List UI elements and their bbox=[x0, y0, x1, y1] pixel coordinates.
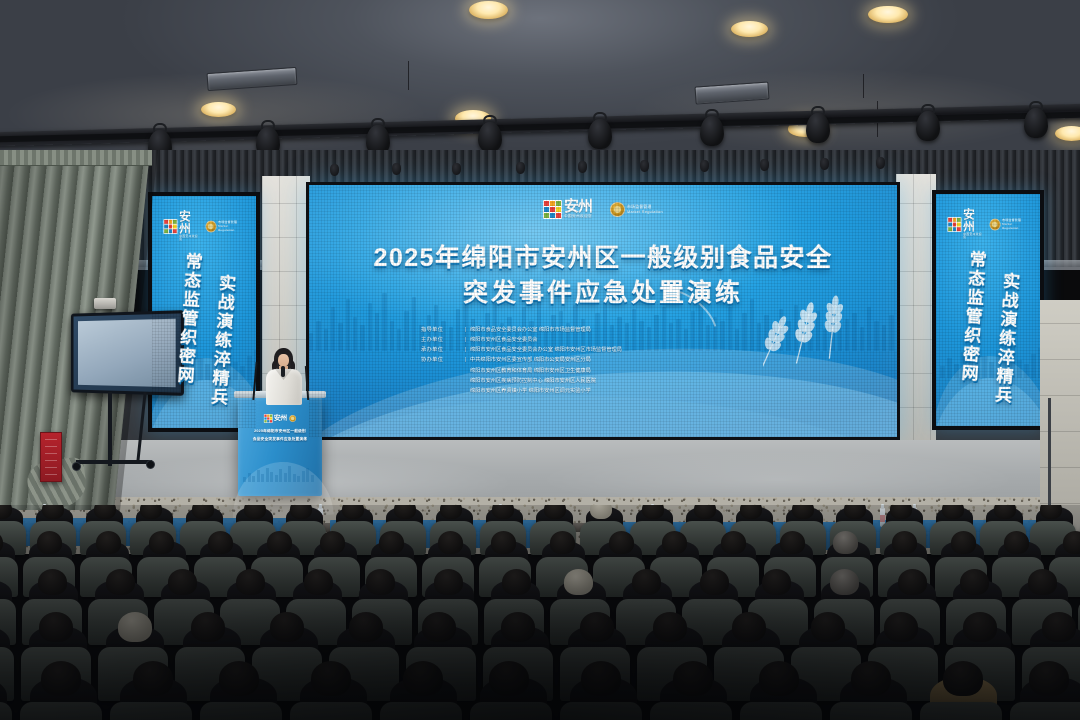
audience-member-head bbox=[590, 505, 612, 519]
audience-seat bbox=[650, 702, 732, 720]
emblem-badge-icon bbox=[205, 221, 216, 233]
podium-title-line-1: 2025年绵阳市安州区一般级别 bbox=[238, 428, 322, 436]
organizer-value: 绵阳市安州区食品安全委员会办公室 绵阳市安州区市场监督管理局 bbox=[470, 345, 622, 355]
right-slogan-column-2: 实战演练淬精兵 bbox=[985, 271, 1022, 430]
skyline-building bbox=[331, 307, 335, 351]
podium-skyline-graphic bbox=[243, 466, 315, 482]
logo-anzhou-subtext: 中国安州欢迎您 bbox=[179, 235, 200, 241]
left-screen-wave-back bbox=[148, 375, 260, 432]
skyline-building bbox=[1031, 354, 1036, 378]
audience-member-head bbox=[311, 661, 351, 696]
audience-member-head bbox=[851, 661, 891, 696]
left-slogan-column-1: 常态监管织密网 bbox=[168, 251, 205, 432]
emblem-label: 市场监督管理 Market Regulation bbox=[218, 221, 245, 233]
audience-member-head bbox=[892, 531, 917, 554]
audience-member-head bbox=[759, 661, 799, 696]
left-screen-skyline bbox=[156, 346, 260, 380]
audience-seat bbox=[290, 702, 372, 720]
right-screen-slogan: 常态监管织密网 实战演练淬精兵 bbox=[936, 250, 1040, 430]
skyline-building bbox=[375, 313, 379, 351]
audience-member-head bbox=[106, 569, 135, 595]
spotlight-yoke bbox=[705, 109, 719, 118]
skyline-building bbox=[757, 323, 761, 351]
organizer-separator: | bbox=[461, 335, 470, 345]
skyline-building bbox=[288, 466, 291, 482]
market-regulation-emblem bbox=[289, 415, 296, 422]
logo-calligraphy: 安州 bbox=[274, 415, 287, 422]
audience-member-head bbox=[96, 531, 121, 554]
audience-member-head bbox=[721, 531, 746, 554]
audience-member-head bbox=[653, 612, 687, 642]
skyline-building bbox=[874, 321, 878, 351]
monitor-stand-post bbox=[108, 392, 112, 466]
main-screen-title: 2025年绵阳市安州区一般级别食品安全 突发事件应急处置演练 bbox=[309, 241, 897, 310]
skyline-building bbox=[284, 473, 287, 482]
stage-spotlight bbox=[588, 119, 612, 149]
logo-calligraphy: 安州 中国安州欢迎您 bbox=[179, 212, 200, 241]
skyline-building bbox=[742, 313, 746, 351]
logo-anzhou-subtext: 中国安州欢迎您 bbox=[564, 215, 592, 219]
organizer-separator: | bbox=[461, 325, 470, 335]
audience-seat bbox=[920, 702, 1002, 720]
audience-member-head bbox=[422, 612, 456, 642]
skyline-building bbox=[860, 327, 864, 351]
skyline-building bbox=[261, 474, 264, 482]
skyline-building bbox=[961, 352, 966, 378]
logo-anzhou-subtext: 中国安州欢迎您 bbox=[963, 233, 984, 239]
audience-member-head bbox=[732, 612, 766, 642]
stage-spotlight bbox=[916, 111, 940, 141]
audience-member-head bbox=[662, 531, 687, 554]
monitor-caster-wheel bbox=[72, 462, 81, 471]
audience-member-head bbox=[270, 612, 304, 642]
audience-member-head bbox=[833, 531, 858, 554]
audience-member-head bbox=[581, 661, 621, 696]
logo-calligraphy: 安州 中国安州欢迎您 bbox=[963, 210, 984, 239]
emblem-label-cn: 市场监督管理 bbox=[1002, 219, 1029, 223]
audience-member-head bbox=[951, 531, 976, 554]
left-led-screen: 安州 中国安州欢迎您 市场监督管理 Market Regulation 常态监管… bbox=[148, 192, 260, 432]
spotlight-yoke bbox=[1029, 101, 1043, 110]
audience-seat bbox=[740, 702, 822, 720]
audience-member-head bbox=[440, 505, 462, 519]
wall-mounted-spotlight bbox=[578, 161, 587, 173]
organizer-value: 绵阳市安州区养贤镇小学 绵阳市安州区调元实验小学 bbox=[470, 386, 596, 396]
podium-title-line-2: 食品安全突发事件应急处置演练 bbox=[238, 436, 322, 444]
audience-member-head bbox=[942, 505, 964, 519]
audience-seat bbox=[0, 702, 12, 720]
audience-member-head bbox=[963, 612, 997, 642]
organizer-row: 协办单位|中共绵阳市安州区委宣传部 绵阳市公安局安州区分局绵阳市安州区教育和体育… bbox=[421, 355, 622, 396]
wall-mounted-spotlight bbox=[640, 160, 649, 172]
audience-member-head bbox=[844, 505, 866, 519]
market-regulation-emblem: 市场监督管理 Market Regulation bbox=[205, 221, 244, 233]
right-led-screen: 安州 中国安州欢迎您 市场监督管理 Market Regulation 常态监管… bbox=[932, 190, 1044, 430]
skyline-building bbox=[243, 477, 246, 482]
audience-member-head bbox=[434, 569, 463, 595]
logo-anzhou-text: 安州 bbox=[963, 209, 974, 233]
skyline-building bbox=[324, 329, 328, 351]
organizer-label: 承办单位 bbox=[421, 345, 461, 355]
audience-member-head bbox=[673, 661, 713, 696]
skyline-building bbox=[735, 329, 739, 351]
skyline-building bbox=[968, 360, 973, 378]
emblem-label: 市场监督管理 Market Regulation bbox=[1002, 219, 1029, 231]
skyline-building bbox=[163, 360, 168, 380]
audience-member-head bbox=[502, 569, 531, 595]
wall-mounted-spotlight bbox=[452, 163, 461, 175]
stage-spotlight bbox=[478, 122, 502, 152]
left-screen-logos: 安州 中国安州欢迎您 市场监督管理 Market Regulation bbox=[163, 212, 244, 241]
anzhou-city-brand-logo: 安州 中国安州欢迎您 bbox=[947, 210, 983, 239]
skyline-building bbox=[338, 323, 342, 351]
spotlight-yoke bbox=[811, 106, 825, 115]
audience-member-head bbox=[642, 505, 664, 519]
skyline-building bbox=[867, 307, 871, 351]
audience-member-head bbox=[1040, 505, 1062, 519]
audience-member-head bbox=[811, 612, 845, 642]
market-regulation-emblem: 市场监督管理 Market Regulation bbox=[610, 202, 663, 217]
skyline-building bbox=[1024, 364, 1029, 378]
audience-member-head bbox=[1042, 612, 1076, 642]
audience-member-head bbox=[550, 531, 575, 554]
organizer-row: 主办单位|绵阳市安州区食品安全委员会 bbox=[421, 335, 622, 345]
ceiling-hanging-wire bbox=[863, 74, 864, 97]
organizer-label: 协办单位 bbox=[421, 355, 461, 365]
anzhou-city-brand-logo: 安州 bbox=[264, 414, 287, 423]
organizer-value: 中共绵阳市安州区委宣传部 绵阳市公安局安州区分局 bbox=[470, 355, 596, 365]
spotlight-yoke bbox=[371, 118, 385, 127]
logo-mosaic-grid bbox=[264, 414, 273, 423]
audience-member-head bbox=[994, 505, 1016, 519]
audience-member-head bbox=[489, 661, 529, 696]
skyline-building bbox=[989, 362, 994, 378]
skyline-building bbox=[1003, 358, 1008, 378]
skyline-building bbox=[212, 352, 217, 380]
right-slogan-column-1: 常态监管织密网 bbox=[952, 249, 989, 430]
logo-mosaic-grid bbox=[947, 217, 961, 232]
main-screen-logos: 安州 中国安州欢迎您 市场监督管理 Market Regulation bbox=[309, 200, 897, 219]
audience-member-head bbox=[304, 569, 333, 595]
tile-wall-right-gap bbox=[896, 174, 936, 442]
audience-member-head bbox=[41, 661, 81, 696]
skyline-building bbox=[198, 358, 203, 380]
skyline-building bbox=[205, 364, 210, 380]
organizer-values: 绵阳市安州区食品安全委员会 bbox=[470, 335, 537, 345]
audience-member-head bbox=[140, 505, 162, 519]
logo-mosaic-grid bbox=[543, 200, 562, 219]
skyline-building bbox=[156, 368, 161, 380]
skyline-building bbox=[940, 366, 945, 378]
ceiling-downlight bbox=[1055, 126, 1080, 141]
audience-member-head bbox=[208, 531, 233, 554]
skyline-building bbox=[219, 360, 224, 380]
audience-member-head bbox=[890, 505, 912, 519]
right-screen-wave-front bbox=[932, 351, 1044, 430]
skyline-building bbox=[191, 350, 196, 380]
audience-member-head bbox=[118, 612, 152, 642]
organizer-separator: | bbox=[461, 345, 470, 355]
audience-member-head bbox=[192, 505, 214, 519]
audience-seat bbox=[20, 702, 102, 720]
stage-spotlight bbox=[806, 113, 830, 143]
monitor-caster-wheel bbox=[146, 460, 155, 469]
organizer-row: 指导单位|绵阳市食品安全委员会办公室 绵阳市市场监督管理局 bbox=[421, 325, 622, 335]
audience-member-head bbox=[267, 531, 292, 554]
audience-member-head bbox=[394, 505, 416, 519]
organizer-value: 绵阳市安州区疾病预防控制中心 绵阳市安州区人民医院 bbox=[470, 376, 596, 386]
skyline-building bbox=[279, 469, 282, 482]
skyline-building bbox=[954, 364, 959, 378]
audience-member-head bbox=[366, 569, 395, 595]
audience-member-head bbox=[320, 531, 345, 554]
audience-member-head bbox=[762, 569, 791, 595]
audience-member-head bbox=[149, 531, 174, 554]
left-screen-wave-front bbox=[148, 353, 260, 432]
skyline-building bbox=[177, 354, 182, 380]
organizer-values: 绵阳市食品安全委员会办公室 绵阳市市场监督管理局 bbox=[470, 325, 591, 335]
emblem-label-en: Market Regulation bbox=[627, 210, 663, 215]
stage-spotlight bbox=[700, 116, 724, 146]
right-screen-skyline bbox=[940, 344, 1044, 378]
audience-member-head bbox=[168, 569, 197, 595]
emblem-label-cn: 市场监督管理 bbox=[218, 221, 245, 225]
skyline-building bbox=[297, 476, 300, 482]
skyline-building bbox=[720, 321, 724, 351]
audience-member-head bbox=[1063, 531, 1080, 554]
audience-member-head bbox=[898, 569, 927, 595]
audience-member-head bbox=[632, 569, 661, 595]
audience-seating-area bbox=[0, 505, 1080, 720]
logo-mosaic-grid bbox=[163, 219, 177, 234]
wall-mounted-spotlight bbox=[700, 160, 709, 172]
audience-member-head bbox=[42, 505, 64, 519]
emblem-label-en: Market Regulation bbox=[1002, 223, 1029, 231]
skyline-building bbox=[226, 346, 231, 380]
conference-hall-photo: 安州 中国安州欢迎您 市场监督管理 Market Regulation 常态监管… bbox=[0, 0, 1080, 720]
organizer-credits-block: 指导单位|绵阳市食品安全委员会办公室 绵阳市市场监督管理局主办单位|绵阳市安州区… bbox=[421, 325, 622, 396]
organizer-value: 绵阳市安州区教育和体育局 绵阳市安州区卫生健康局 bbox=[470, 366, 596, 376]
organizer-separator: | bbox=[461, 355, 470, 365]
skyline-building bbox=[184, 362, 189, 380]
right-screen-logos: 安州 中国安州欢迎您 市场监督管理 Market Regulation bbox=[947, 210, 1028, 239]
skyline-building bbox=[248, 473, 251, 482]
organizer-value: 绵阳市食品安全委员会办公室 绵阳市市场监督管理局 bbox=[470, 325, 591, 335]
skyline-building bbox=[404, 311, 408, 351]
skyline-building bbox=[353, 317, 357, 351]
audience-member-head bbox=[349, 612, 383, 642]
audience-member-head bbox=[564, 569, 593, 595]
audience-member-head bbox=[38, 569, 67, 595]
skyline-building bbox=[309, 333, 313, 351]
audience-seat bbox=[560, 702, 642, 720]
spotlight-yoke bbox=[593, 112, 607, 121]
skyline-building bbox=[625, 323, 629, 351]
main-led-screen: 安州 中国安州欢迎您 市场监督管理 Market Regulation 2025… bbox=[306, 182, 900, 440]
emblem-badge-icon bbox=[610, 202, 625, 217]
skyline-building bbox=[1010, 344, 1015, 378]
wall-mounted-spotlight bbox=[330, 164, 339, 176]
left-screen-slogan: 常态监管织密网 实战演练淬精兵 bbox=[152, 252, 256, 432]
audience-member-head bbox=[700, 569, 729, 595]
emblem-label: 市场监督管理 Market Regulation bbox=[627, 205, 663, 215]
monitor-stand-base bbox=[76, 460, 152, 464]
audience-member-head bbox=[342, 505, 364, 519]
audience-member-head bbox=[740, 505, 762, 519]
skyline-building bbox=[889, 315, 893, 351]
ceiling-downlight bbox=[868, 6, 908, 24]
audience-member-head bbox=[403, 661, 443, 696]
skyline-building bbox=[233, 362, 238, 380]
audience-member-head bbox=[94, 505, 116, 519]
audience-member-head bbox=[501, 612, 535, 642]
audience-member-head bbox=[792, 505, 814, 519]
audience-member-head bbox=[1028, 569, 1057, 595]
audience-member-head bbox=[290, 505, 312, 519]
skyline-building bbox=[275, 475, 278, 482]
wall-mounted-spotlight bbox=[516, 162, 525, 174]
skyline-building bbox=[247, 356, 252, 380]
audience-seat bbox=[200, 702, 282, 720]
handheld-microphone bbox=[281, 366, 285, 377]
skyline-building bbox=[728, 307, 732, 351]
emblem-badge-icon bbox=[989, 219, 1000, 231]
skyline-building bbox=[882, 325, 886, 351]
skyline-building bbox=[975, 348, 980, 378]
skyline-building bbox=[302, 471, 305, 482]
emblem-badge-icon bbox=[289, 415, 296, 422]
organizer-label: 指导单位 bbox=[421, 325, 461, 335]
ceiling-hanging-wire bbox=[408, 61, 409, 90]
skyline-building bbox=[982, 356, 987, 378]
skyline-building bbox=[390, 321, 394, 351]
projector-device bbox=[94, 298, 116, 309]
podium-title: 2025年绵阳市安州区一般级别 食品安全突发事件应急处置演练 bbox=[238, 428, 322, 444]
audience-seat bbox=[110, 702, 192, 720]
audience-member-head bbox=[943, 661, 983, 696]
organizer-row: 承办单位|绵阳市安州区食品安全委员会办公室 绵阳市安州区市场监督管理局 bbox=[421, 345, 622, 355]
stage-spotlight bbox=[1024, 108, 1048, 138]
left-slogan-column-2: 实战演练淬精兵 bbox=[201, 273, 238, 432]
audience-member-head bbox=[1029, 661, 1069, 696]
skyline-building bbox=[311, 475, 314, 482]
audience-member-head bbox=[133, 661, 173, 696]
anzhou-city-brand-logo: 安州 中国安州欢迎您 bbox=[163, 212, 199, 241]
audience-member-head bbox=[780, 531, 805, 554]
audience-member-head bbox=[219, 661, 259, 696]
audience-member-head bbox=[244, 505, 266, 519]
spotlight-yoke bbox=[921, 104, 935, 113]
skyline-building bbox=[397, 329, 401, 351]
title-line-2: 突发事件应急处置演练 bbox=[309, 276, 897, 311]
red-banner bbox=[40, 432, 62, 482]
skyline-building bbox=[170, 366, 175, 380]
audience-member-head bbox=[580, 612, 614, 642]
anzhou-city-brand-logo: 安州 中国安州欢迎您 bbox=[543, 200, 592, 219]
skyline-building bbox=[368, 303, 372, 351]
audience-member-head bbox=[491, 531, 516, 554]
market-regulation-emblem: 市场监督管理 Market Regulation bbox=[989, 219, 1028, 231]
wall-mounted-spotlight bbox=[760, 159, 769, 171]
spotlight-yoke bbox=[153, 123, 167, 132]
audience-member-head bbox=[236, 569, 265, 595]
audience-member-head bbox=[438, 531, 463, 554]
wall-mounted-spotlight bbox=[392, 163, 401, 175]
organizer-value: 绵阳市安州区食品安全委员会 bbox=[470, 335, 537, 345]
skyline-building bbox=[257, 470, 260, 482]
audience-member-head bbox=[960, 569, 989, 595]
audience-member-head bbox=[191, 612, 225, 642]
audience-member-head bbox=[37, 531, 62, 554]
skyline-building bbox=[240, 366, 245, 380]
skyline-building bbox=[947, 358, 952, 378]
audience-member-head bbox=[544, 505, 566, 519]
spotlight-yoke bbox=[261, 120, 275, 129]
podium-logos: 安州 bbox=[261, 414, 300, 423]
skyline-building bbox=[252, 476, 255, 482]
curtain-valance bbox=[0, 150, 152, 166]
skyline-building bbox=[996, 350, 1001, 378]
logo-anzhou-text: 安州 bbox=[179, 211, 190, 235]
audience-member-head bbox=[609, 531, 634, 554]
audience-member-head bbox=[492, 505, 514, 519]
logo-calligraphy: 安州 中国安州欢迎您 bbox=[564, 200, 592, 219]
skyline-building bbox=[270, 472, 273, 482]
logo-anzhou-text: 安州 bbox=[274, 415, 287, 422]
title-line-1: 2025年绵阳市安州区一般级别食品安全 bbox=[309, 241, 897, 276]
skyline-building bbox=[1017, 360, 1022, 378]
audience-seat bbox=[380, 702, 462, 720]
audience-member-head bbox=[39, 612, 73, 642]
audience-member-head bbox=[379, 531, 404, 554]
skyline-building bbox=[316, 321, 320, 351]
spotlight-yoke bbox=[483, 115, 497, 124]
organizer-values: 中共绵阳市安州区委宣传部 绵阳市公安局安州区分局绵阳市安州区教育和体育局 绵阳市… bbox=[470, 355, 596, 396]
skyline-building bbox=[306, 468, 309, 482]
skyline-building bbox=[293, 474, 296, 482]
organizer-label: 主办单位 bbox=[421, 335, 461, 345]
ceiling-downlight bbox=[469, 1, 508, 19]
right-screen-wave-back bbox=[932, 373, 1044, 430]
audience-seat bbox=[1010, 702, 1080, 720]
audience-member-head bbox=[830, 569, 859, 595]
skyline-building bbox=[360, 325, 364, 351]
wall-mounted-spotlight bbox=[820, 158, 829, 170]
organizer-values: 绵阳市安州区食品安全委员会办公室 绵阳市安州区市场监督管理局 bbox=[470, 345, 622, 355]
emblem-label-en: Market Regulation bbox=[218, 225, 245, 233]
logo-anzhou-text: 安州 bbox=[564, 199, 592, 215]
audience-seat bbox=[470, 702, 552, 720]
audience-member-head bbox=[884, 612, 918, 642]
audience-member-head bbox=[694, 505, 716, 519]
audience-seat bbox=[830, 702, 912, 720]
skyline-building bbox=[266, 468, 269, 482]
audience-member-head bbox=[1004, 531, 1029, 554]
